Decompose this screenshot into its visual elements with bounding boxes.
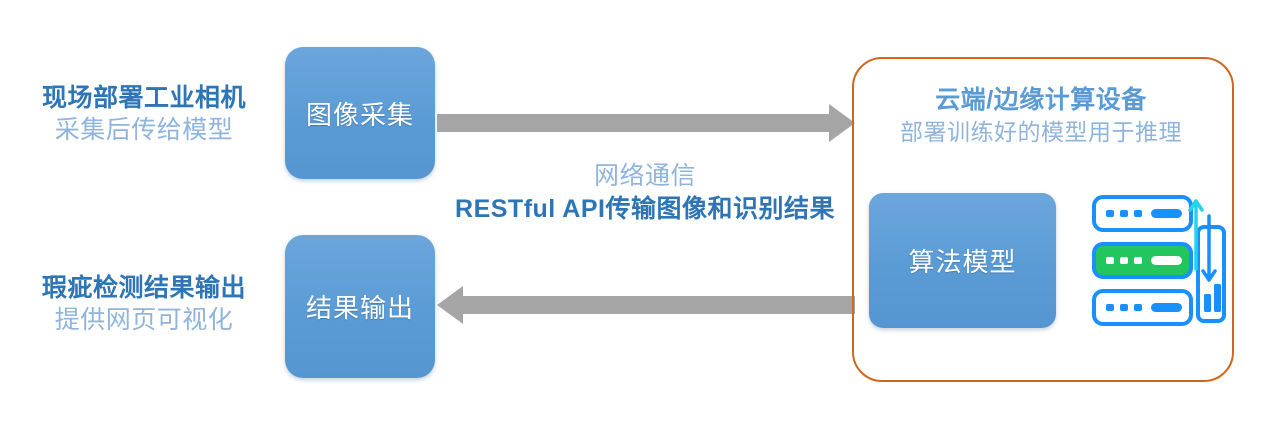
node-result-output[interactable]: 结果输出 (285, 235, 435, 378)
caption-line1: 网络通信 (440, 160, 850, 193)
server-row-bottom (1094, 291, 1191, 324)
node-algorithm-model-label: 算法模型 (908, 242, 1016, 279)
annotation-defect-line1: 瑕疵检测结果输出 (14, 272, 274, 304)
arrow-cloud-to-output (437, 286, 855, 324)
annotation-camera-line2: 采集后传给模型 (14, 114, 274, 146)
annotation-camera-line1: 现场部署工业相机 (14, 82, 274, 114)
node-result-output-label: 结果输出 (306, 288, 414, 325)
annotation-camera-deployment: 现场部署工业相机 采集后传给模型 (14, 82, 274, 146)
caption-network-communication: 网络通信 RESTful API传输图像和识别结果 (440, 160, 850, 225)
server-row-top (1094, 197, 1191, 230)
server-row-middle-active (1094, 244, 1191, 277)
arrow-capture-to-cloud (437, 104, 855, 142)
cloud-edge-title: 云端/边缘计算设备 (852, 84, 1230, 117)
server-stack-icon (1092, 194, 1232, 328)
cloud-edge-heading: 云端/边缘计算设备 部署训练好的模型用于推理 (852, 84, 1230, 147)
node-algorithm-model[interactable]: 算法模型 (869, 193, 1056, 328)
cloud-edge-subtitle: 部署训练好的模型用于推理 (852, 117, 1230, 147)
diagram-canvas: 现场部署工业相机 采集后传给模型 瑕疵检测结果输出 提供网页可视化 图像采集 结… (0, 0, 1280, 424)
node-image-capture[interactable]: 图像采集 (285, 47, 435, 179)
node-image-capture-label: 图像采集 (306, 95, 414, 132)
caption-line2: RESTful API传输图像和识别结果 (440, 193, 850, 226)
annotation-defect-output: 瑕疵检测结果输出 提供网页可视化 (14, 272, 274, 336)
annotation-defect-line2: 提供网页可视化 (14, 304, 274, 336)
